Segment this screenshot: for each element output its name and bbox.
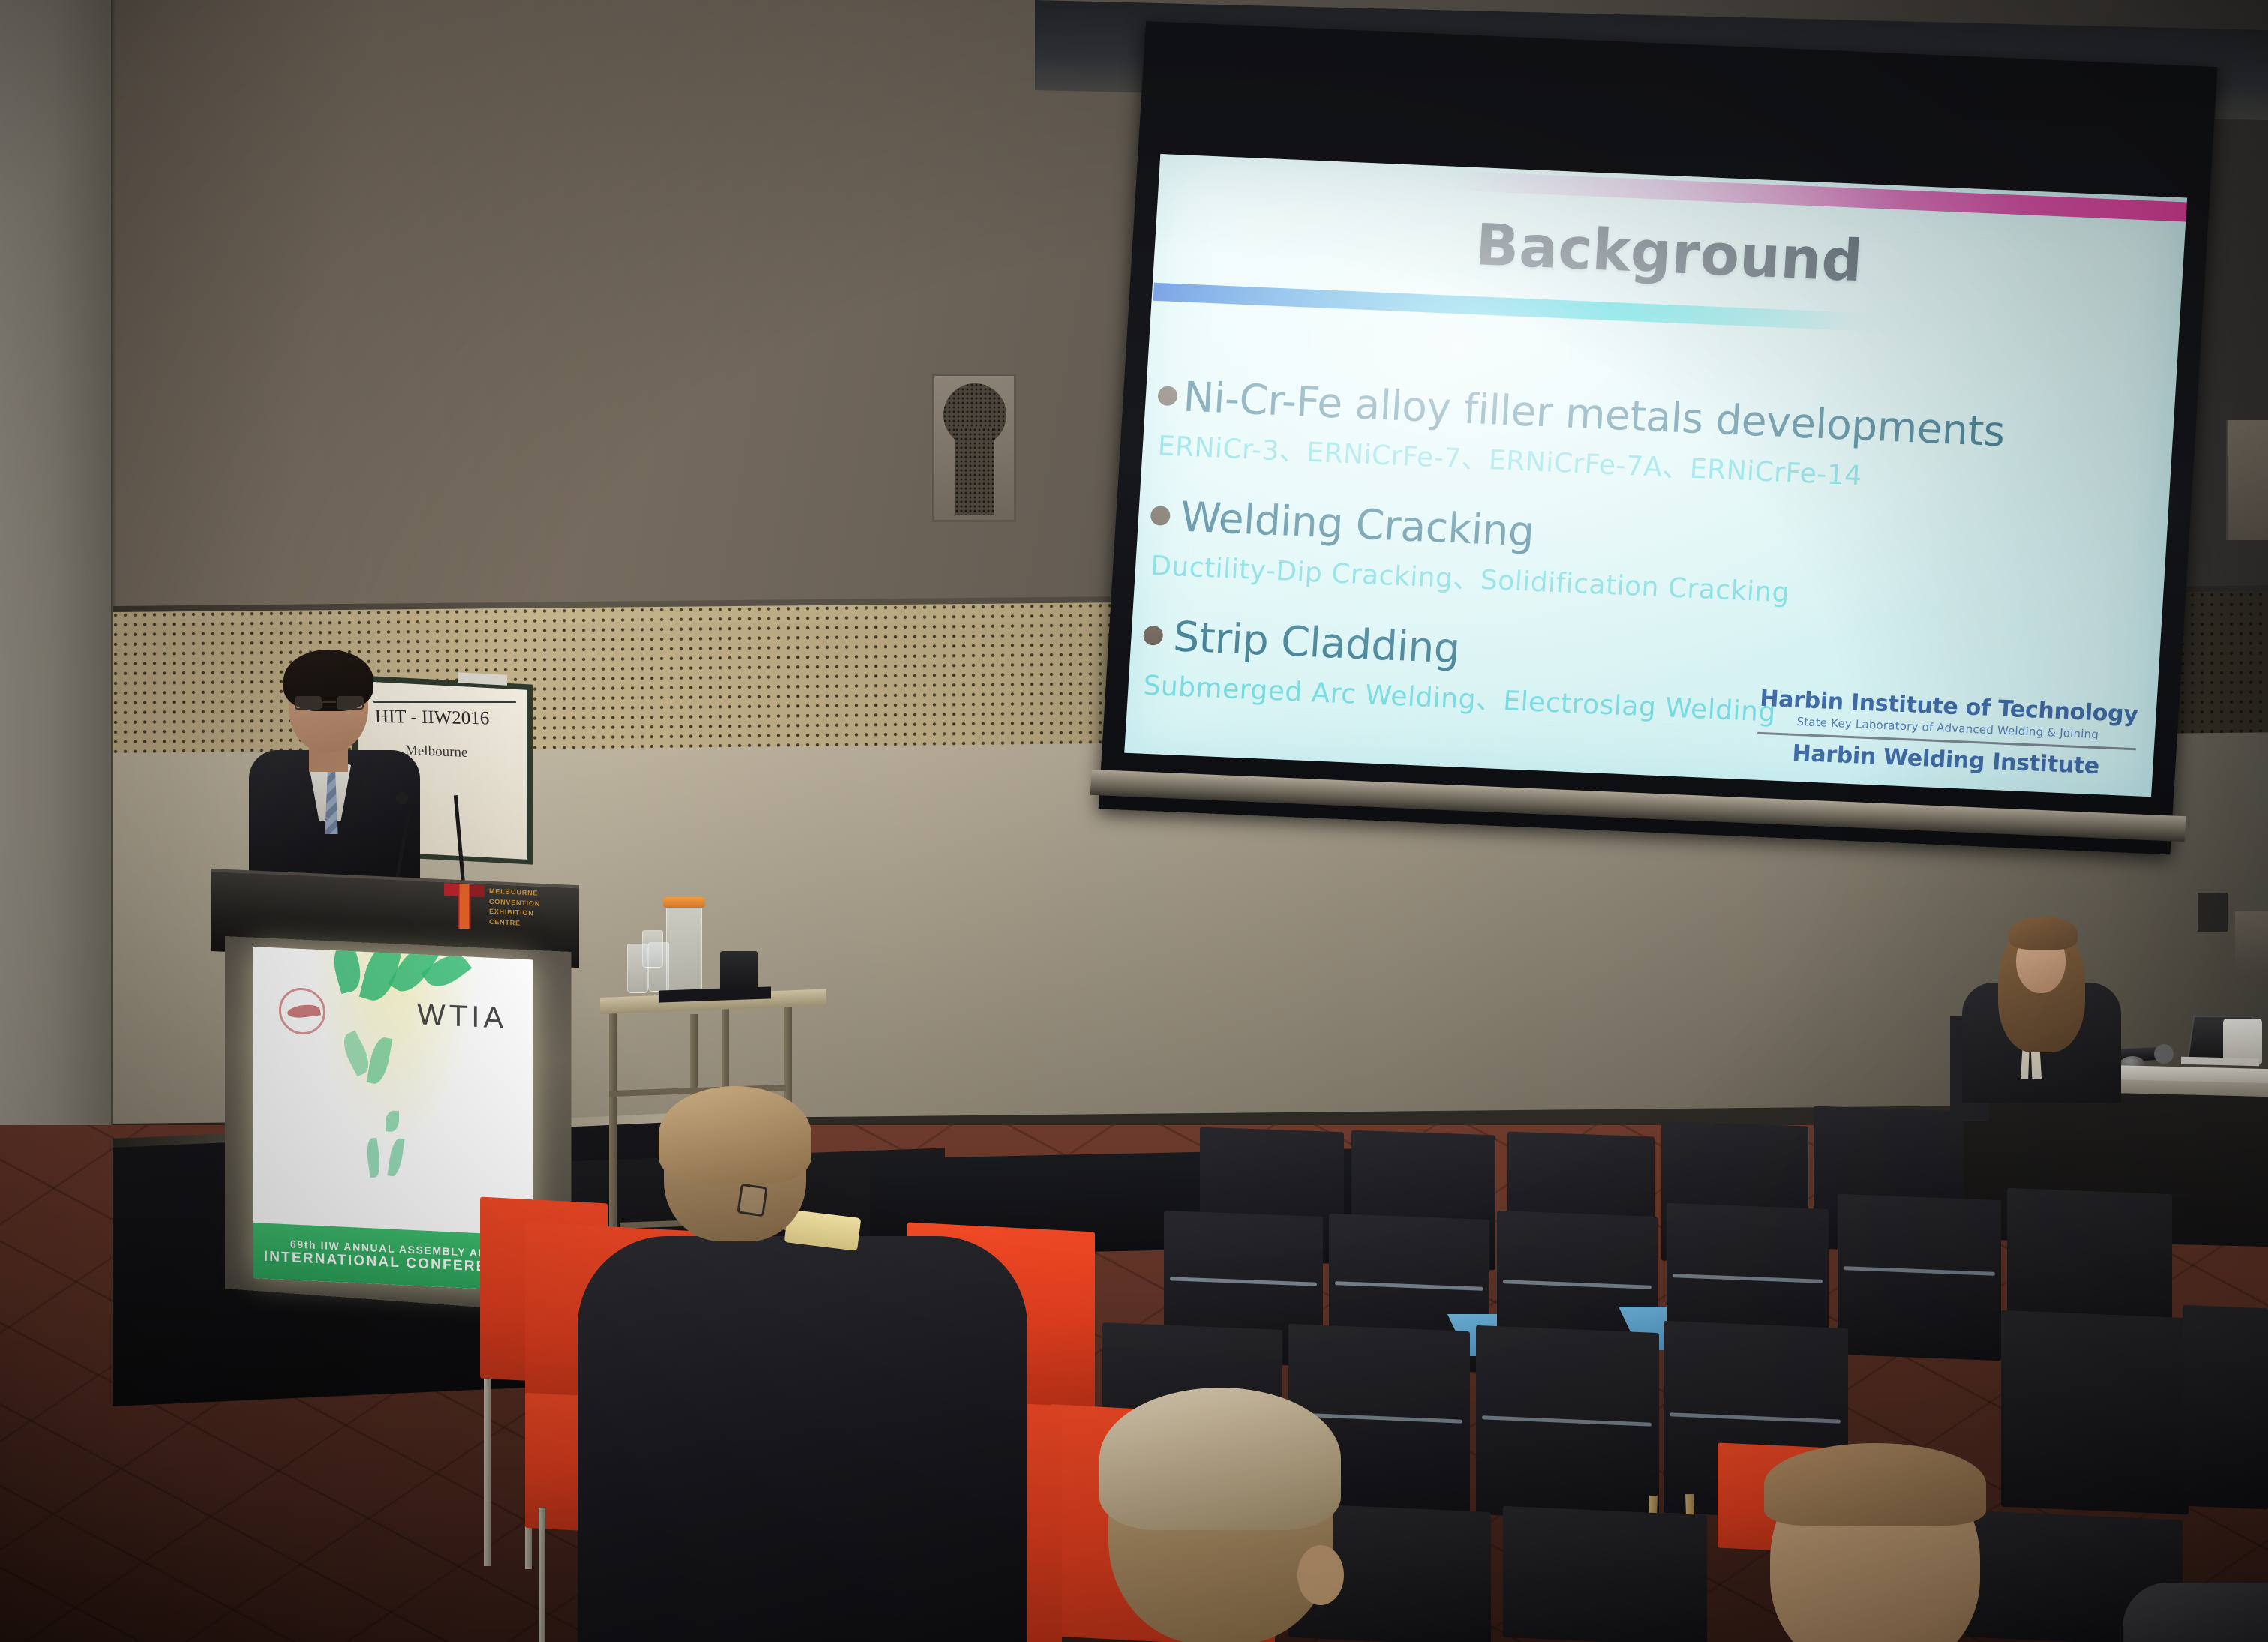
audience-member-far-right-shoulder (2122, 1583, 2268, 1642)
audience-member-center-ear (1297, 1545, 1344, 1605)
chair-black (2001, 1310, 2188, 1514)
slide-footer-logo: Harbin Institute of Technology State Key… (1756, 686, 2138, 781)
water-carafe-lid (663, 897, 705, 908)
audience-member-front-glasses-icon (736, 1184, 767, 1217)
chair-black (1837, 1194, 2001, 1361)
speaker-grille-rect (955, 428, 994, 515)
slide-bullet-item: Ni-Cr-Fe alloy filler metals development… (1154, 371, 2156, 506)
banner-wtia-logo: WTIA (417, 998, 507, 1036)
wall-speaker-right-icon (2226, 420, 2268, 540)
lectern-microphone-head-icon (396, 792, 408, 804)
left-wall-pillar (0, 0, 112, 1320)
flipchart-pen-stroke (373, 701, 516, 703)
wall-panel-dark-right (2197, 893, 2227, 932)
wall-speaker-icon (932, 374, 1016, 522)
bullet-dot-icon (1150, 506, 1171, 526)
conference-room-photo: Background Ni-Cr-Fe alloy filler metals … (0, 0, 2268, 1642)
audience-member-center-hair (1099, 1388, 1341, 1530)
slide-bullet-item: Welding Cracking Ductility-Dip Cracking、… (1147, 491, 2149, 626)
slide-bullet-heading: Strip Cladding (1172, 612, 1462, 672)
bullet-dot-icon (1143, 626, 1164, 646)
chair-black (2182, 1305, 2268, 1510)
chair-leg-metal (538, 1508, 545, 1642)
glasses-bridge (322, 701, 336, 703)
flipchart-line-2: Melbourne (405, 743, 468, 761)
flipchart-line-1: HIT - IIW2016 (375, 707, 490, 730)
glasses-lens-right (337, 696, 364, 710)
venue-logo-mark-icon (444, 883, 484, 929)
slide-bullet-heading: Welding Cracking (1179, 493, 1535, 556)
water-carafe (666, 904, 702, 1000)
chair-leg-metal (484, 1379, 490, 1566)
venue-logo-text: MELBOURNE CONVENTION EXHIBITION CENTRE (489, 887, 540, 929)
side-table-leg (609, 1011, 616, 1236)
audience-member-right-hair (1764, 1443, 1986, 1526)
presenter-glasses-icon (295, 696, 364, 710)
presentation-slide: Background Ni-Cr-Fe alloy filler metals … (1124, 154, 2187, 797)
chairperson-hair-front (2008, 917, 2077, 950)
table-microphone-head-icon (2154, 1044, 2173, 1064)
audience-member-front-hair (658, 1086, 811, 1184)
venue-logo: MELBOURNE CONVENTION EXHIBITION CENTRE (444, 881, 534, 936)
water-glass (642, 930, 663, 968)
audience-member-front-body (577, 1236, 1027, 1642)
bullet-dot-icon (1157, 386, 1178, 406)
chair-black (1503, 1506, 1707, 1642)
glasses-lens-left (295, 696, 322, 710)
wall-speaker-right-lower-icon (2235, 911, 2268, 979)
projection-screen: Background Ni-Cr-Fe alloy filler metals … (1098, 21, 2217, 860)
